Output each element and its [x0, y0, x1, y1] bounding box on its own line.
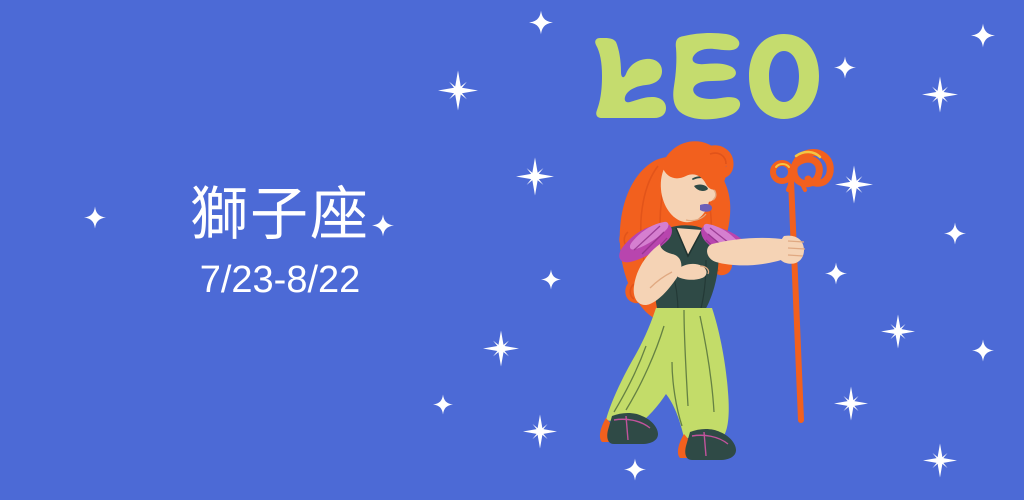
star-burst-5 [516, 158, 554, 201]
star-burst-20 [923, 444, 957, 483]
star-spark-4 [529, 11, 553, 40]
zodiac-date-range: 7/23-8/22 [140, 260, 420, 302]
star-burst-13 [922, 77, 958, 118]
zodiac-title-leo [592, 30, 822, 122]
star-spark-15 [944, 223, 966, 250]
star-spark-6 [541, 270, 561, 295]
star-burst-17 [881, 315, 915, 354]
zodiac-caption-block: 獅子座 7/23-8/22 [140, 185, 420, 302]
star-burst-9 [523, 415, 557, 454]
star-spark-11 [834, 57, 856, 84]
leo-woman-illustration [560, 120, 860, 470]
star-spark-12 [971, 24, 995, 53]
leo-staff [773, 152, 830, 420]
star-burst-7 [483, 331, 519, 372]
hand [778, 236, 804, 264]
zodiac-banner: 獅子座 7/23-8/22 [0, 0, 1024, 500]
leo-title-glyphs [592, 30, 822, 122]
star-spark-8 [433, 395, 453, 420]
star-burst-1 [438, 71, 478, 116]
star-spark-18 [972, 340, 994, 367]
star-spark-2 [84, 207, 106, 234]
leo-woman-svg [560, 120, 860, 470]
lips [700, 204, 712, 212]
zodiac-name-japanese: 獅子座 [140, 185, 420, 246]
